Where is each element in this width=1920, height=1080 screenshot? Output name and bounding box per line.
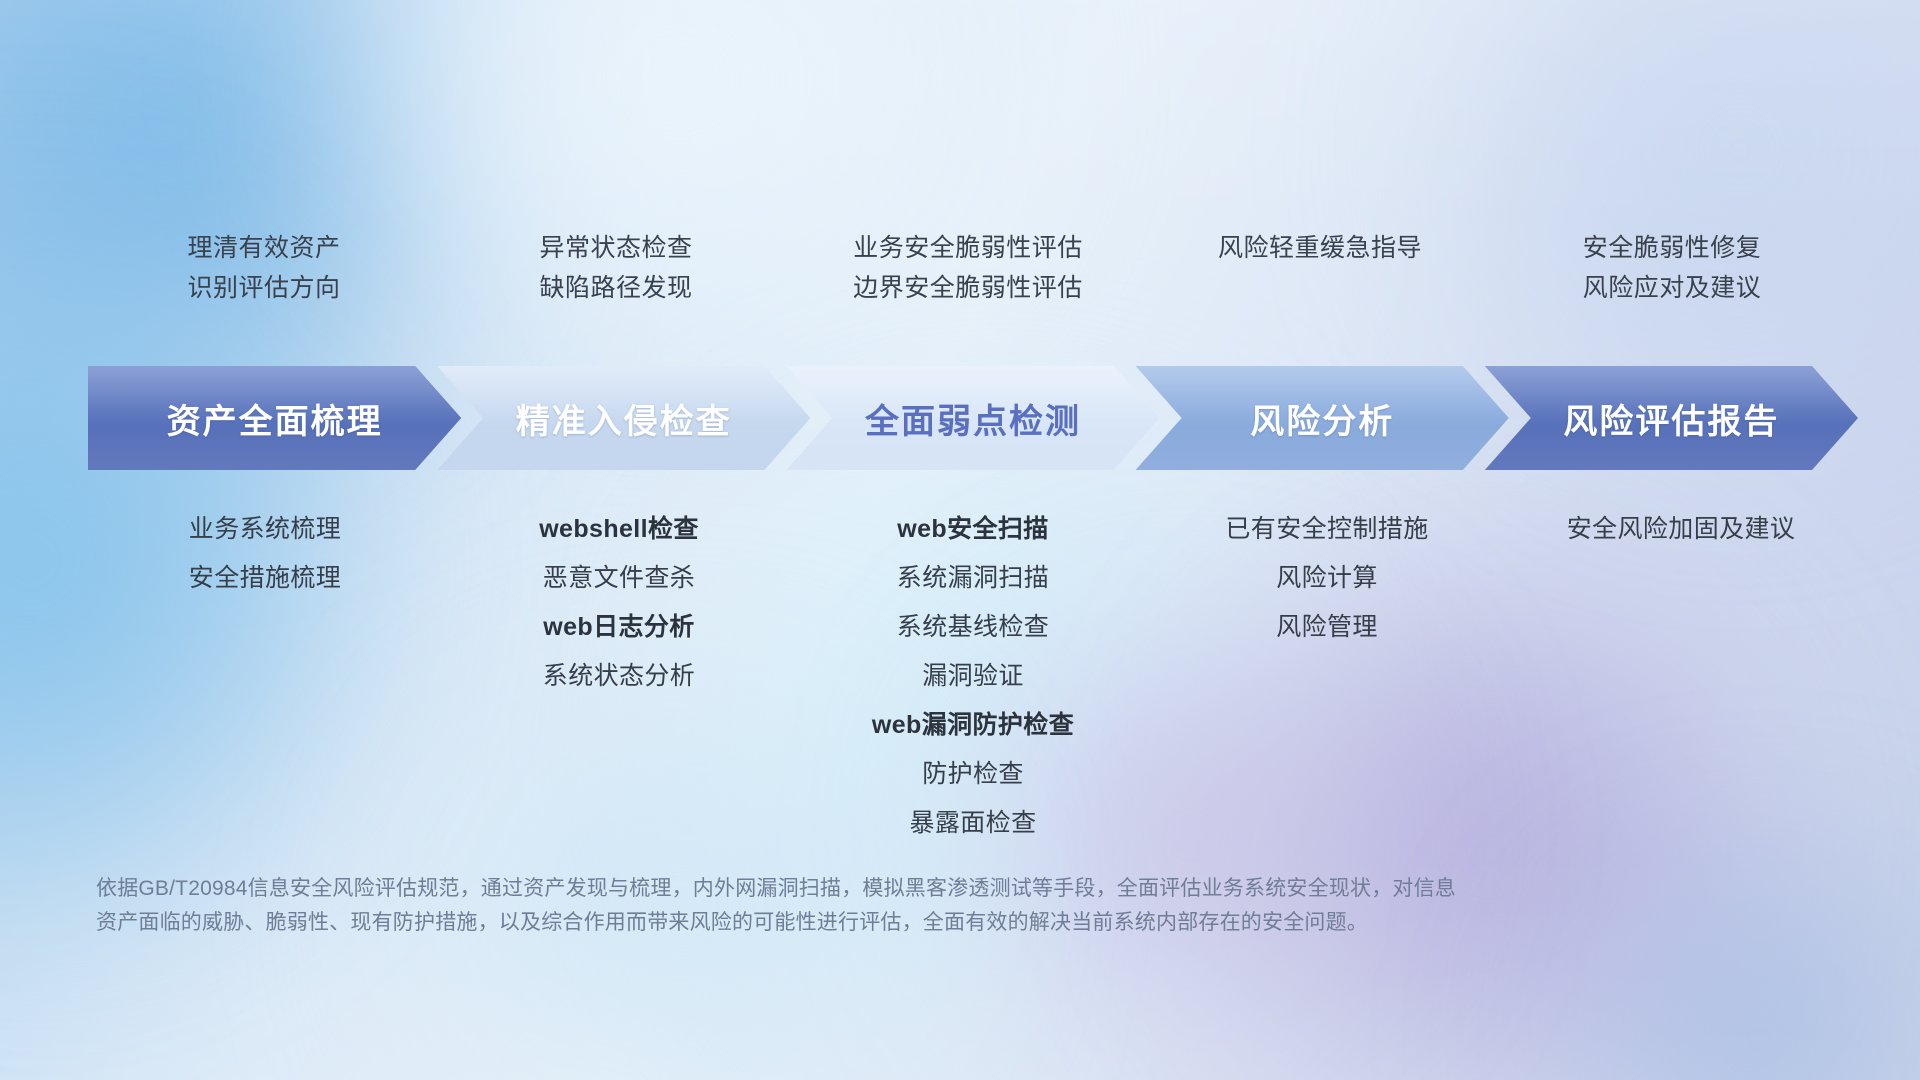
detail-item: 风险计算 bbox=[1276, 554, 1378, 603]
footer-line-1: 依据GB/T20984信息安全风险评估规范，通过资产发现与梳理，内外网漏洞扫描，… bbox=[96, 872, 1716, 906]
detail-item: 已有安全控制措施 bbox=[1225, 505, 1428, 554]
detail-item: 系统状态分析 bbox=[543, 652, 695, 701]
stage-chevron-intrusion-check[interactable]: 精准入侵检查 bbox=[437, 366, 810, 470]
stage-chevron-risk-analysis[interactable]: 风险分析 bbox=[1136, 366, 1509, 470]
stage-title: 风险评估报告 bbox=[1563, 394, 1779, 443]
detail-item: 安全风险加固及建议 bbox=[1567, 505, 1796, 554]
top-label: 理清有效资产 bbox=[187, 228, 340, 268]
detail-item: 系统基线检查 bbox=[897, 603, 1049, 652]
top-labels-weakness-detection: 业务安全脆弱性评估边界安全脆弱性评估 bbox=[792, 228, 1144, 320]
detail-list-risk-analysis: 已有安全控制措施风险计算风险管理 bbox=[1150, 505, 1504, 835]
top-label: 边界安全脆弱性评估 bbox=[853, 268, 1083, 308]
top-label: 风险应对及建议 bbox=[1583, 268, 1762, 308]
detail-item: 业务系统梳理 bbox=[189, 505, 341, 554]
detail-list-weakness-detection: web安全扫描系统漏洞扫描系统基线检查漏洞验证web漏洞防护检查防护检查暴露面检… bbox=[796, 505, 1150, 835]
stage-chevron-weakness-detection[interactable]: 全面弱点检测 bbox=[786, 366, 1159, 470]
top-labels-intrusion-check: 异常状态检查缺陷路径发现 bbox=[440, 228, 792, 320]
top-label: 风险轻重缓急指导 bbox=[1218, 228, 1422, 268]
detail-item: web日志分析 bbox=[543, 603, 694, 652]
detail-item: 防护检查 bbox=[922, 750, 1024, 799]
stage-title: 资产全面梳理 bbox=[167, 394, 383, 443]
detail-item: 暴露面检查 bbox=[909, 799, 1036, 848]
stage-title: 全面弱点检测 bbox=[865, 394, 1081, 443]
footer-description: 依据GB/T20984信息安全风险评估规范，通过资产发现与梳理，内外网漏洞扫描，… bbox=[96, 872, 1716, 940]
stage-chevron-asset-inventory[interactable]: 资产全面梳理 bbox=[88, 366, 461, 470]
detail-item: 风险管理 bbox=[1276, 603, 1378, 652]
stage-title: 风险分析 bbox=[1250, 394, 1394, 443]
detail-list-risk-report: 安全风险加固及建议 bbox=[1504, 505, 1858, 835]
process-flow-diagram: 理清有效资产识别评估方向异常状态检查缺陷路径发现业务安全脆弱性评估边界安全脆弱性… bbox=[0, 0, 1920, 1080]
top-labels-asset-inventory: 理清有效资产识别评估方向 bbox=[88, 228, 440, 320]
top-label: 异常状态检查 bbox=[539, 228, 692, 268]
detail-item: 安全措施梳理 bbox=[189, 554, 341, 603]
top-labels-risk-analysis: 风险轻重缓急指导 bbox=[1144, 228, 1496, 320]
stage-title: 精准入侵检查 bbox=[516, 394, 732, 443]
top-label: 安全脆弱性修复 bbox=[1583, 228, 1762, 268]
top-label: 缺陷路径发现 bbox=[539, 268, 692, 308]
detail-item: 漏洞验证 bbox=[922, 652, 1024, 701]
detail-item: 恶意文件查杀 bbox=[543, 554, 695, 603]
stage-detail-lists: 业务系统梳理安全措施梳理webshell检查恶意文件查杀web日志分析系统状态分… bbox=[88, 505, 1858, 835]
detail-item: webshell检查 bbox=[539, 505, 699, 554]
top-labels-risk-report: 安全脆弱性修复风险应对及建议 bbox=[1496, 228, 1848, 320]
detail-item: web安全扫描 bbox=[897, 505, 1048, 554]
top-label: 识别评估方向 bbox=[187, 268, 340, 308]
top-label-row: 理清有效资产识别评估方向异常状态检查缺陷路径发现业务安全脆弱性评估边界安全脆弱性… bbox=[88, 228, 1848, 320]
detail-item: web漏洞防护检查 bbox=[872, 701, 1074, 750]
footer-line-2: 资产面临的威胁、脆弱性、现有防护措施，以及综合作用而带来风险的可能性进行评估，全… bbox=[96, 906, 1716, 940]
top-label: 业务安全脆弱性评估 bbox=[853, 228, 1083, 268]
stage-chevron-risk-report[interactable]: 风险评估报告 bbox=[1485, 366, 1858, 470]
detail-list-intrusion-check: webshell检查恶意文件查杀web日志分析系统状态分析 bbox=[442, 505, 796, 835]
stage-chevron-band: 资产全面梳理精准入侵检查全面弱点检测风险分析风险评估报告 bbox=[88, 366, 1858, 470]
detail-item: 系统漏洞扫描 bbox=[897, 554, 1049, 603]
detail-list-asset-inventory: 业务系统梳理安全措施梳理 bbox=[88, 505, 442, 835]
